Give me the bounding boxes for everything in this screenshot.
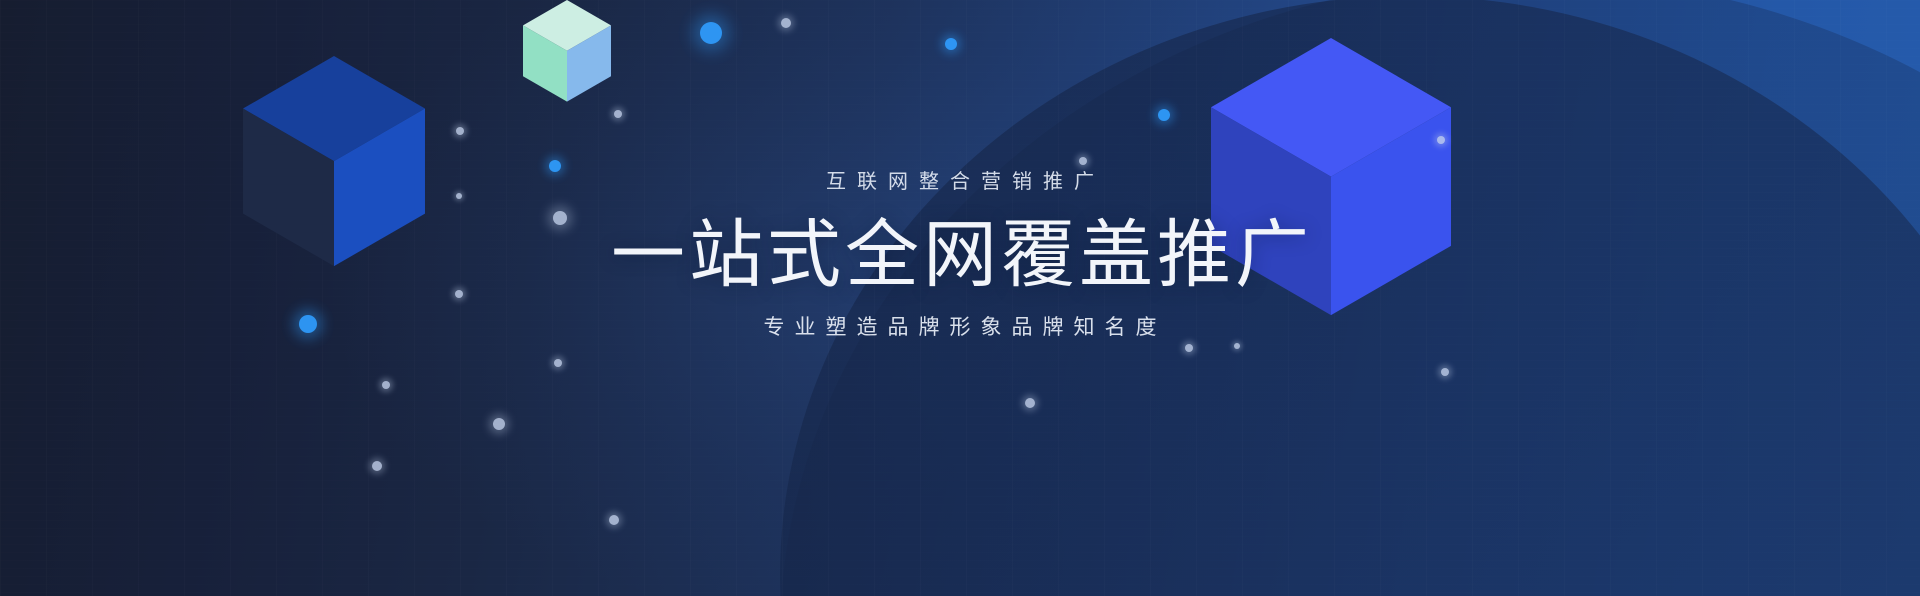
particle-dot [700, 22, 722, 44]
hero-headline: 一站式全网覆盖推广 [0, 214, 1920, 297]
particle-dot [1441, 368, 1449, 376]
particle-dot [781, 18, 791, 28]
cube-small-mint-icon [523, 0, 611, 102]
particle-dot [609, 515, 619, 525]
hero-eyebrow: 互联网整合营销推广 [0, 172, 1920, 192]
particle-dot [945, 38, 957, 50]
hero-tagline: 专业塑造品牌形象品牌知名度 [0, 317, 1920, 338]
hero-banner: 互联网整合营销推广 一站式全网覆盖推广 专业塑造品牌形象品牌知名度 [0, 0, 1920, 596]
particle-dot [549, 160, 561, 172]
particle-dot [554, 359, 562, 367]
particle-dot [372, 461, 382, 471]
particle-dot [1234, 343, 1240, 349]
particle-dot [493, 418, 505, 430]
particle-dot [614, 110, 622, 118]
hero-text-block: 互联网整合营销推广 一站式全网覆盖推广 专业塑造品牌形象品牌知名度 [0, 172, 1920, 338]
particle-dot [456, 127, 464, 135]
particle-dot [382, 381, 390, 389]
particle-dot [1158, 109, 1170, 121]
particle-dot [1025, 398, 1035, 408]
particle-dot [1079, 157, 1087, 165]
particle-dot [1185, 344, 1193, 352]
